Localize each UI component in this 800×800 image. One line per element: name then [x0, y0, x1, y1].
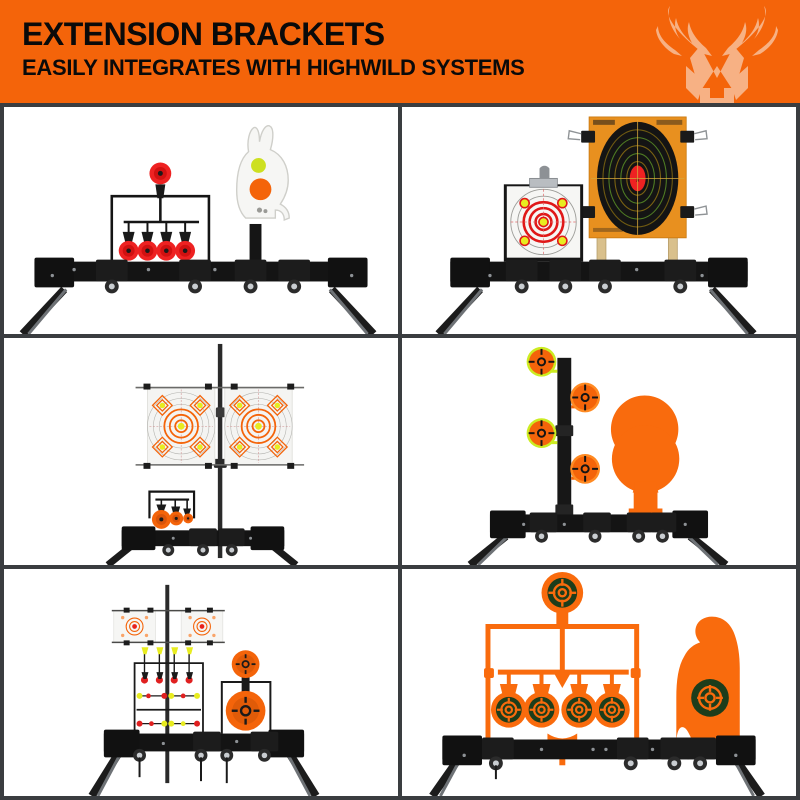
dual-target-spinner — [222, 650, 271, 733]
extension-bracket-base-rail — [34, 258, 367, 294]
orange-oval-silhouette-paper-target: X — [589, 117, 686, 238]
spinner-targets-row — [119, 241, 195, 261]
panel-orange-resetting-target-with-prairie-dog[interactable] — [402, 569, 796, 796]
panel-dual-sight-in-targets-with-spinner[interactable] — [4, 338, 398, 565]
vertical-target-tree-post — [555, 358, 573, 516]
extension-bracket-base-rail — [122, 526, 285, 556]
white-bullseye-paper-target-board — [504, 166, 583, 262]
tripod-legs — [23, 289, 374, 334]
panel-multi-row-spinner-rack-and-dual-spinner[interactable] — [4, 569, 398, 796]
three-paddle-spinner-target — [149, 492, 194, 529]
vertical-mast-post — [165, 585, 169, 783]
tripod-legs — [438, 289, 753, 334]
tripod-legs — [432, 759, 761, 796]
orange-popper-silhouette — [611, 395, 679, 516]
rabbit-silhouette-target — [237, 126, 290, 266]
panel-resetting-target-with-rabbit-silhouette[interactable] — [4, 107, 398, 334]
panel-grid: X — [0, 103, 800, 800]
page-subtitle: EASILY INTEGRATES WITH HIGHWILD SYSTEMS — [22, 57, 525, 79]
panel-tree-post-targets-with-popper[interactable] — [402, 338, 796, 565]
panel-paper-target-boards-mounted[interactable]: X — [402, 107, 796, 334]
header-banner: EXTENSION BRACKETS EASILY INTEGRATES WIT… — [0, 0, 800, 103]
extension-bracket-base-rail — [490, 510, 708, 542]
prairie-dog-silhouette-target — [676, 617, 739, 750]
top-reset-paddle — [149, 163, 171, 199]
extension-bracket-base-rail — [450, 258, 747, 294]
page-title: EXTENSION BRACKETS — [22, 18, 385, 50]
top-reset-paddle — [542, 572, 584, 627]
product-feature-image: EXTENSION BRACKETS EASILY INTEGRATES WIT… — [0, 0, 800, 800]
extension-bracket-base-rail — [104, 730, 304, 784]
highwild-buck-antler-logo — [642, 0, 792, 103]
extension-bracket-base-rail — [442, 736, 755, 780]
orange-paddle-targets — [491, 692, 630, 728]
